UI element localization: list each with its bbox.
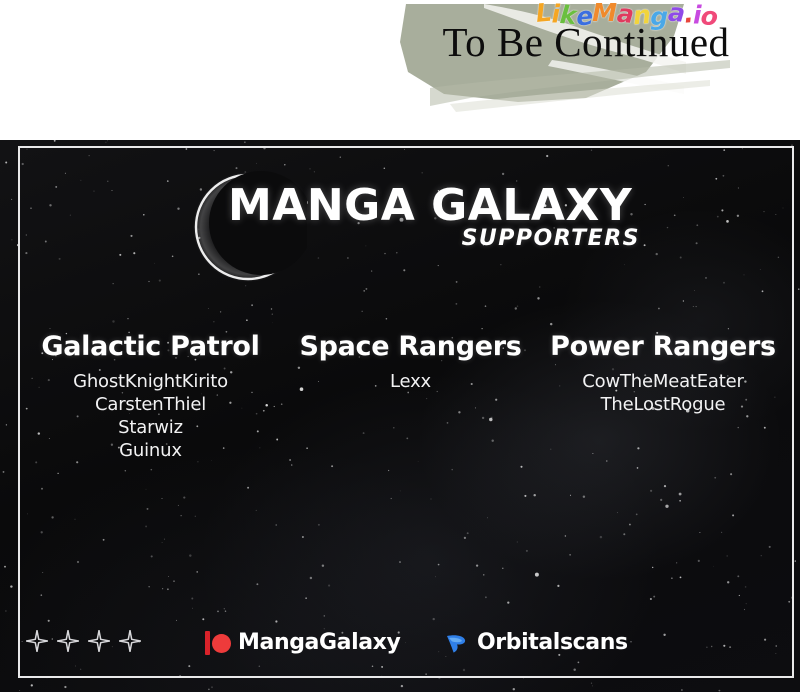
brand-label: Orbitalscans — [477, 626, 628, 660]
sparkle-star-icon — [57, 630, 79, 652]
watermark-letter: e — [575, 1, 594, 32]
tier-name-list: GhostKnightKirito CarstenThiel Starwiz G… — [18, 370, 283, 462]
tier-column-power-rangers: Power Rangers CowTheMeatEater TheLostRog… — [538, 330, 788, 416]
to-be-continued-banner: To Be Continued LikeManga.io — [0, 0, 800, 140]
supporter-name: CarstenThiel — [18, 393, 283, 416]
supporter-name: Lexx — [291, 370, 531, 393]
tier-title: Power Rangers — [538, 330, 788, 364]
supporter-name: TheLostRogue — [538, 393, 788, 416]
brand-mangagalaxy[interactable]: MangaGalaxy — [205, 626, 400, 660]
supporter-name: CowTheMeatEater — [538, 370, 788, 393]
supporters-panel: MANGA GALAXY SUPPORTERS Galactic Patrol … — [0, 140, 800, 692]
logo-secondary-text: SUPPORTERS — [462, 226, 640, 251]
watermark-letter: k — [558, 0, 577, 31]
tier-title: Space Rangers — [291, 330, 531, 364]
watermark-letter: L — [535, 0, 553, 29]
tier-title: Galactic Patrol — [18, 330, 283, 364]
supporter-name: Starwiz — [18, 416, 283, 439]
panel-footer: MangaGalaxy Orbitalscans — [0, 626, 800, 666]
orbitalscans-comet-icon — [443, 630, 469, 656]
supporter-name: Guinux — [18, 439, 283, 462]
watermark-letter: g — [650, 2, 667, 32]
brand-label: MangaGalaxy — [238, 626, 400, 660]
manga-galaxy-logo: MANGA GALAXY SUPPORTERS — [0, 160, 800, 280]
mangagalaxy-logo-icon — [205, 630, 231, 656]
watermark-letter: M — [592, 0, 616, 28]
watermark-letter: n — [632, 0, 652, 31]
brand-orbitalscans[interactable]: Orbitalscans — [443, 626, 628, 660]
tier-name-list: CowTheMeatEater TheLostRogue — [538, 370, 788, 416]
logo-text-group: MANGA GALAXY SUPPORTERS — [228, 182, 648, 272]
tier-name-list: Lexx — [291, 370, 531, 393]
logo-primary-text: MANGA GALAXY — [228, 182, 648, 230]
supporter-tiers: Galactic Patrol GhostKnightKirito Carste… — [18, 330, 788, 462]
sparkle-decoration-group — [26, 630, 141, 652]
sparkle-star-icon — [26, 630, 48, 652]
sparkle-star-icon — [119, 630, 141, 652]
watermark-letter: o — [700, 1, 719, 32]
tier-column-space-rangers: Space Rangers Lexx — [291, 330, 531, 393]
tier-column-galactic-patrol: Galactic Patrol GhostKnightKirito Carste… — [18, 330, 283, 462]
supporter-name: GhostKnightKirito — [18, 370, 283, 393]
sparkle-star-icon — [88, 630, 110, 652]
site-watermark: LikeManga.io — [536, 0, 800, 30]
